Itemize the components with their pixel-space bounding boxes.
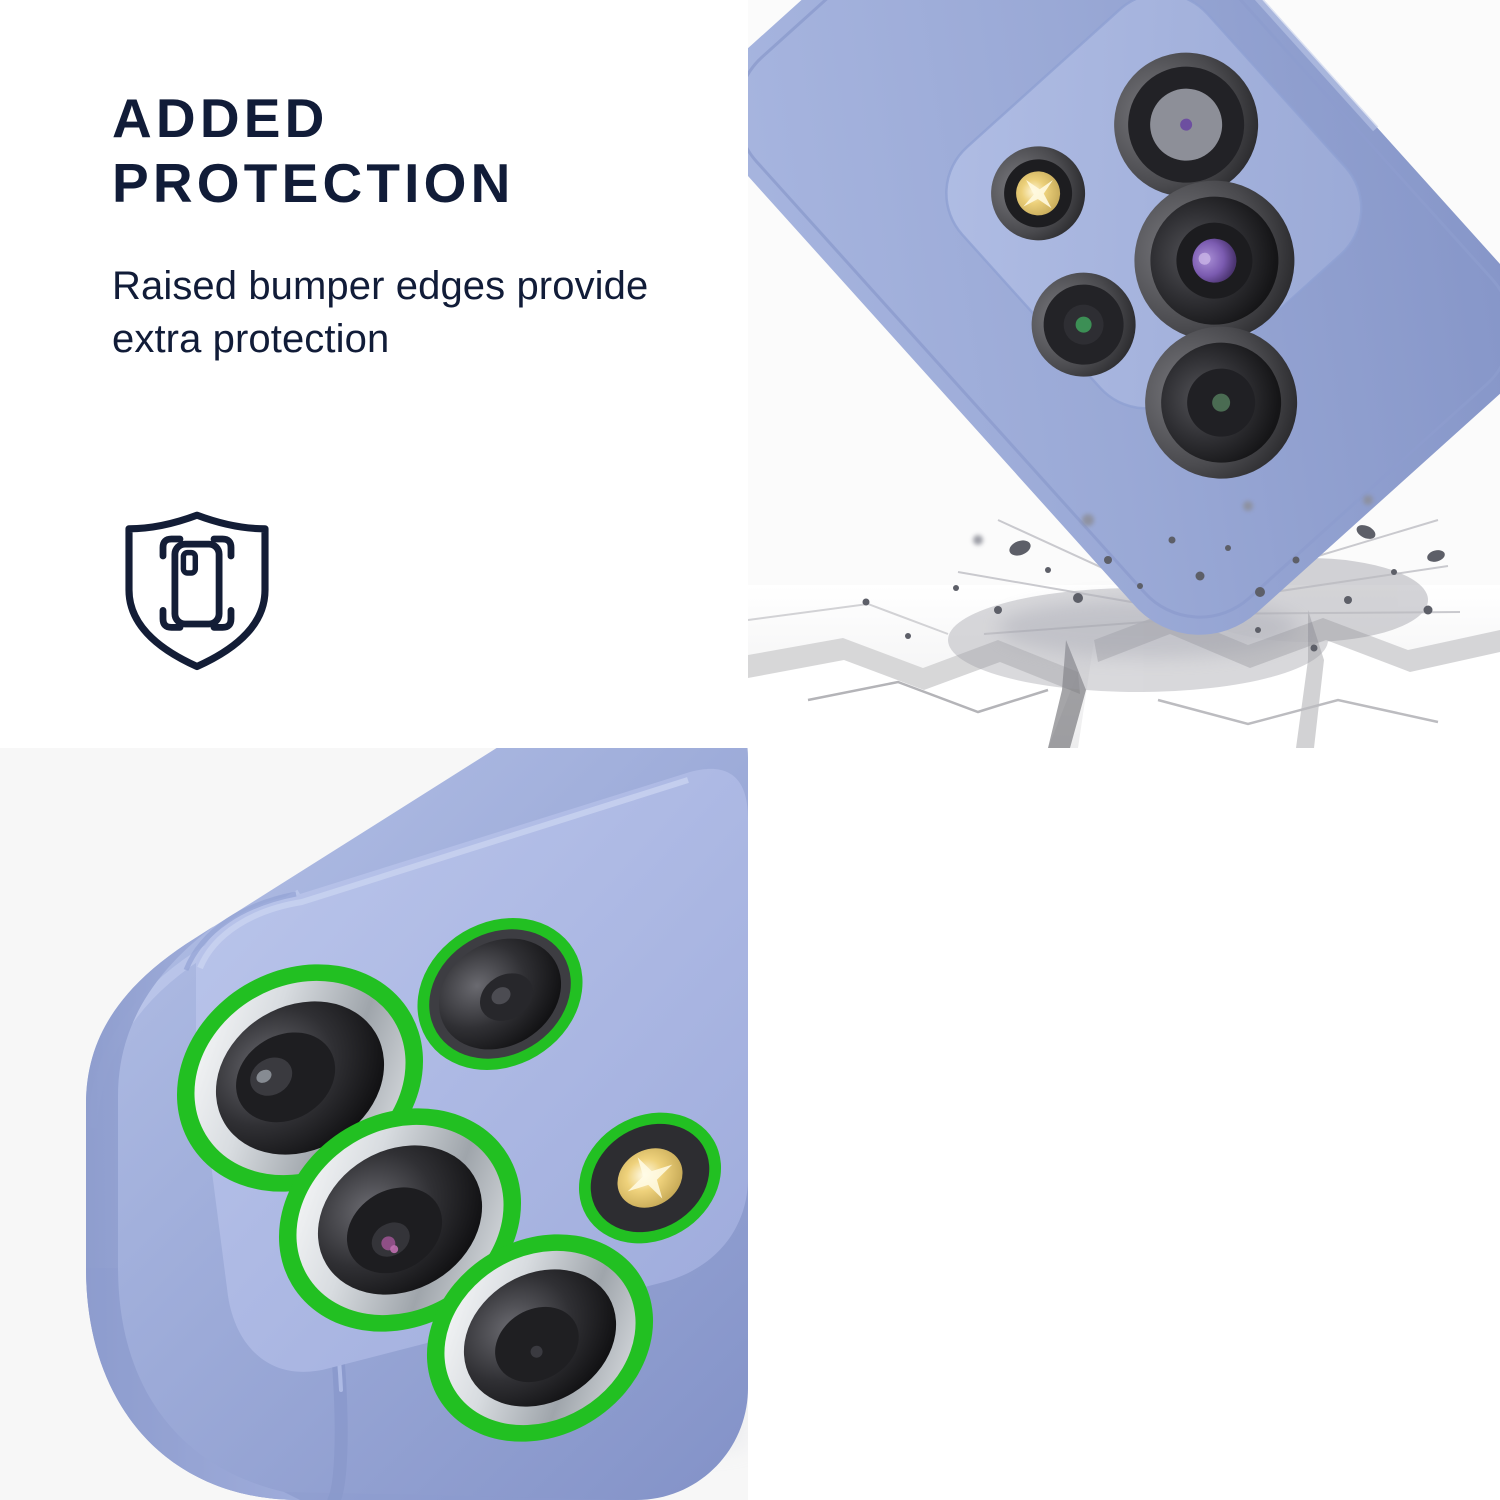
- added-protection-text: ADDED PROTECTION Raised bumper edges pro…: [112, 86, 692, 366]
- headline-line-1: ADDED: [112, 87, 329, 149]
- panel-camera-closeup: [0, 748, 748, 1500]
- camera-closeup-illustration: [0, 748, 748, 1500]
- shield-phone-icon: [112, 505, 282, 675]
- feature-grid-page: ADDED PROTECTION Raised bumper edges pro…: [0, 0, 1500, 1500]
- panel-drop-impact: [748, 0, 1500, 748]
- page-title-added-protection: ADDED PROTECTION: [112, 86, 692, 216]
- panel-added-protection: ADDED PROTECTION Raised bumper edges pro…: [0, 0, 748, 748]
- added-protection-subcopy: Raised bumper edges provide extra protec…: [112, 260, 692, 366]
- drop-impact-illustration: [748, 0, 1500, 748]
- headline-line-2: PROTECTION: [112, 151, 692, 216]
- panel-protects-camera: PROTECTS CAMERA Raised edges protect cam…: [748, 748, 1500, 1500]
